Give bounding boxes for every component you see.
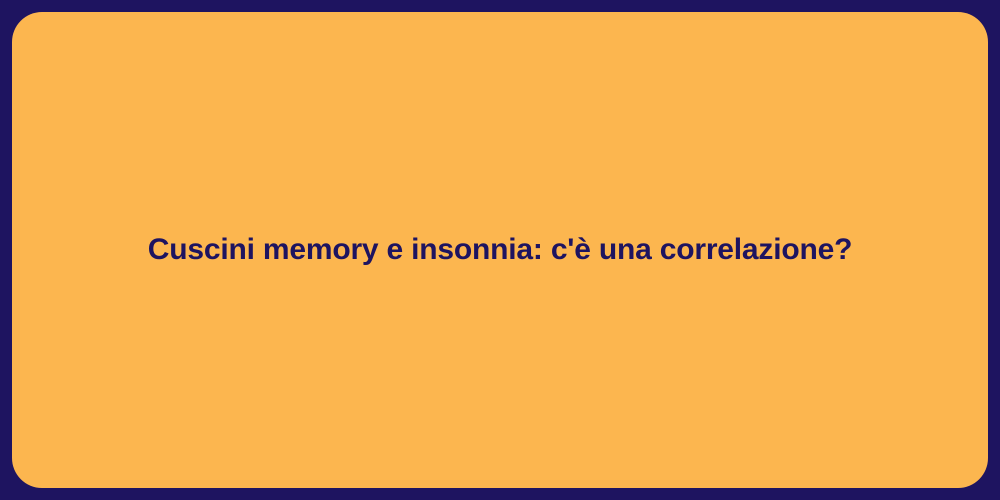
hero-card: Cuscini memory e insonnia: c'è una corre… [12,12,988,488]
page-title: Cuscini memory e insonnia: c'è una corre… [108,231,892,269]
page-root: Cuscini memory e insonnia: c'è una corre… [0,0,1000,500]
